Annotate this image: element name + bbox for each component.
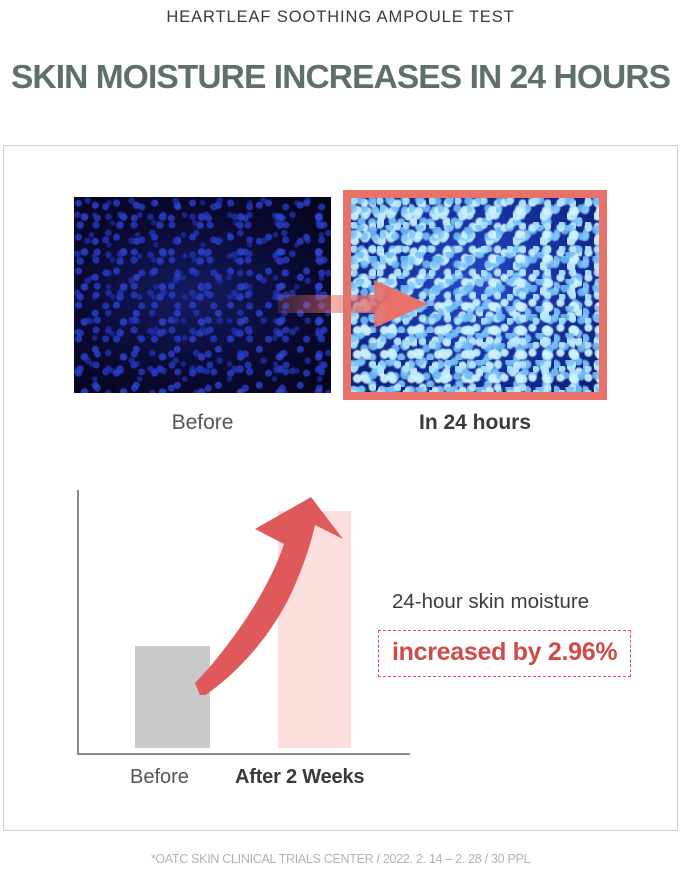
chart-y-axis xyxy=(77,490,79,755)
callout-box: increased by 2.96% xyxy=(378,630,631,677)
chart-x-label-before: Before xyxy=(130,766,189,789)
bar-chart xyxy=(60,485,420,760)
caption-before: Before xyxy=(74,411,331,435)
chart-x-labels: Before After 2 Weeks xyxy=(60,766,420,796)
chart-x-axis xyxy=(77,753,410,755)
eyebrow-text: HEARTLEAF SOOTHING AMPOULE TEST xyxy=(0,8,681,27)
callout-value: increased by 2.96% xyxy=(392,638,617,666)
caption-after: In 24 hours xyxy=(343,411,607,435)
footnote-text: *OATC SKIN CLINICAL TRIALS CENTER / 2022… xyxy=(0,852,681,866)
page-title: SKIN MOISTURE INCREASES IN 24 HOURS xyxy=(0,58,681,98)
callout-title: 24-hour skin moisture xyxy=(392,590,589,614)
chart-x-label-after: After 2 Weeks xyxy=(235,766,364,789)
right-arrow-icon xyxy=(278,280,428,328)
growth-arrow-icon xyxy=(155,495,370,695)
